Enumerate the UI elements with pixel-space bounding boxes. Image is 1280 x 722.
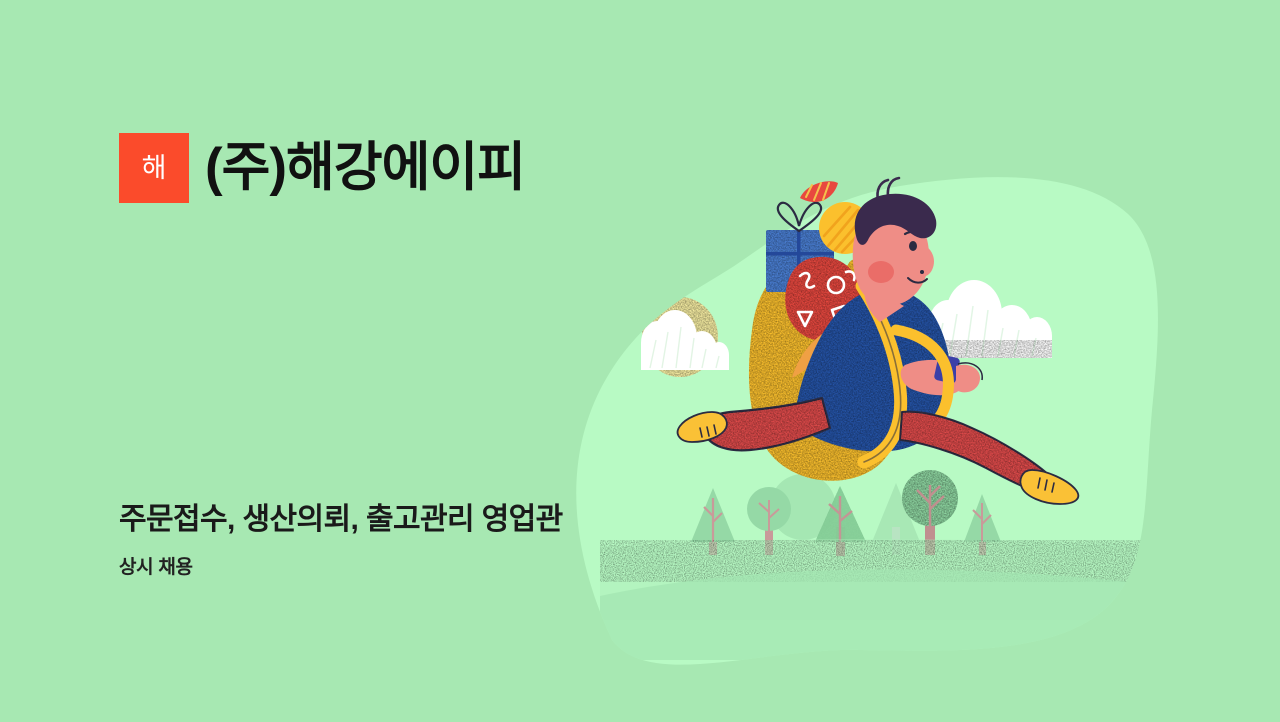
runner-front-leg (900, 412, 1056, 495)
runner-head (853, 178, 937, 322)
job-posting-card: 해 (주)해강에이피 주문접수, 생산의뢰, 출고관리 영업관 상시 채용 (0, 0, 1280, 722)
tree-conifer-3 (872, 483, 920, 555)
ornament-bundle-striped (843, 258, 896, 316)
job-info-block: 주문접수, 생산의뢰, 출고관리 영업관 상시 채용 (119, 500, 563, 581)
runner-rear-shoe (678, 412, 727, 442)
ground-strip (600, 539, 1180, 660)
tree-row (691, 470, 1001, 556)
cloud-left (641, 310, 729, 370)
ornament-leaf-striped (800, 181, 838, 202)
tree-conifer-2 (815, 486, 866, 556)
sack-strap-loop (896, 330, 948, 432)
company-name: (주)해강에이피 (205, 140, 525, 196)
background-blob (576, 177, 1158, 665)
tree-round-2 (902, 470, 958, 555)
runner-back-arm (792, 330, 834, 378)
runner-torso (794, 289, 951, 452)
tree-round-1 (747, 487, 791, 555)
sack-strap (862, 286, 901, 462)
runner-rear-leg (704, 398, 830, 450)
company-header: 해 (주)해강에이피 (119, 133, 525, 203)
tree-conifer-1 (691, 488, 735, 555)
runner-front-shoe (1020, 470, 1078, 504)
sun-shape (642, 297, 718, 377)
gift-sack (749, 264, 906, 481)
gift-box-blue (766, 203, 834, 292)
job-status-badge: 상시 채용 (119, 556, 563, 581)
runner-front-arm (901, 354, 983, 395)
tree-conifer-4 (964, 494, 1001, 555)
ornament-ball-yellow (819, 202, 871, 254)
running-delivery-person-illustration (0, 0, 1280, 722)
company-logo-badge: 해 (119, 133, 189, 203)
job-title: 주문접수, 생산의뢰, 출고관리 영업관 (119, 500, 563, 539)
cloud-right (928, 280, 1052, 358)
ornament-ball-red (785, 257, 862, 341)
